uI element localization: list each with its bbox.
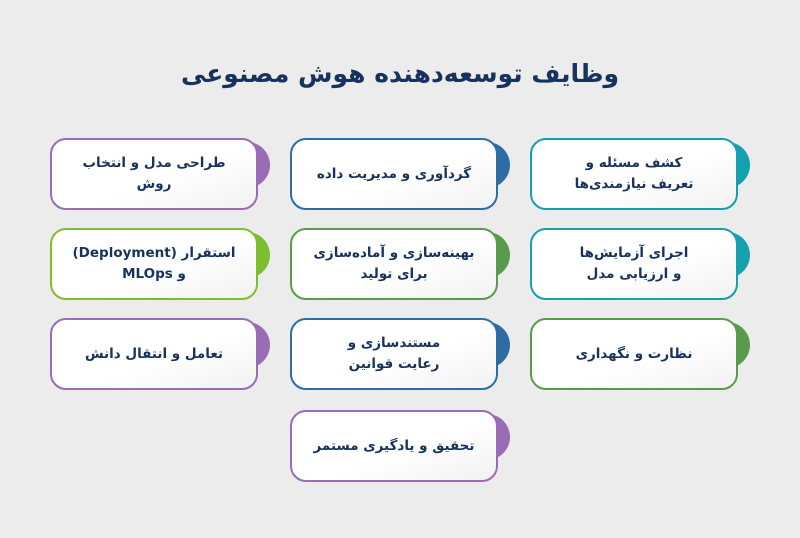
card-body: نظارت و نگهداری [530, 318, 738, 390]
card-body: مستندسازی و رعایت قوانین [290, 318, 498, 390]
card-body: استقرار (Deployment) و MLOps [50, 228, 258, 300]
task-card-monitoring-maintenance[interactable]: نظارت و نگهداری [530, 318, 738, 390]
page-title: وظایف توسعه‌دهنده هوش مصنوعی [0, 58, 800, 91]
card-body: اجرای آزمایش‌ها و ارزیابی مدل [530, 228, 738, 300]
card-label: طراحی مدل و انتخاب روش [64, 153, 244, 195]
card-label: گردآوری و مدیریت داده [317, 164, 471, 185]
card-label: نظارت و نگهداری [576, 344, 693, 365]
card-body: طراحی مدل و انتخاب روش [50, 138, 258, 210]
task-card-data-collection[interactable]: گردآوری و مدیریت داده [290, 138, 498, 210]
infographic-canvas: وظایف توسعه‌دهنده هوش مصنوعی کشف مسئله و… [0, 0, 800, 538]
card-body: کشف مسئله و تعریف نیازمندی‌ها [530, 138, 738, 210]
card-label: کشف مسئله و تعریف نیازمندی‌ها [575, 153, 694, 195]
card-body: بهینه‌سازی و آماده‌سازی برای تولید [290, 228, 498, 300]
card-body: گردآوری و مدیریت داده [290, 138, 498, 210]
task-card-deployment-mlops[interactable]: استقرار (Deployment) و MLOps [50, 228, 258, 300]
card-label: تحقیق و یادگیری مستمر [314, 436, 475, 457]
card-label: تعامل و انتقال دانش [85, 344, 223, 365]
card-label: استقرار (Deployment) و MLOps [73, 243, 236, 285]
card-label: مستندسازی و رعایت قوانین [348, 333, 441, 375]
task-card-continuous-research[interactable]: تحقیق و یادگیری مستمر [290, 410, 498, 482]
task-card-documentation-compliance[interactable]: مستندسازی و رعایت قوانین [290, 318, 498, 390]
task-card-knowledge-transfer[interactable]: تعامل و انتقال دانش [50, 318, 258, 390]
task-card-grid: کشف مسئله و تعریف نیازمندی‌هاگردآوری و م… [0, 138, 800, 518]
card-label: اجرای آزمایش‌ها و ارزیابی مدل [580, 243, 689, 285]
task-card-experiments-evaluation[interactable]: اجرای آزمایش‌ها و ارزیابی مدل [530, 228, 738, 300]
card-body: تحقیق و یادگیری مستمر [290, 410, 498, 482]
card-body: تعامل و انتقال دانش [50, 318, 258, 390]
task-card-model-design[interactable]: طراحی مدل و انتخاب روش [50, 138, 258, 210]
task-card-problem-discovery[interactable]: کشف مسئله و تعریف نیازمندی‌ها [530, 138, 738, 210]
card-label: بهینه‌سازی و آماده‌سازی برای تولید [314, 243, 475, 285]
task-card-optimization-production[interactable]: بهینه‌سازی و آماده‌سازی برای تولید [290, 228, 498, 300]
